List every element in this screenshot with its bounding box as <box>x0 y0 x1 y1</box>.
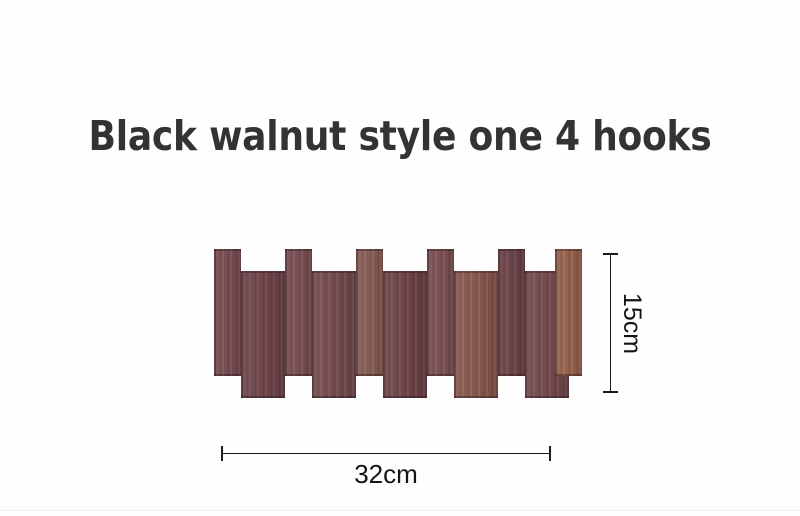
slat-shading <box>312 271 356 398</box>
rack-slat-5 <box>356 249 383 376</box>
slat-bottom-edge <box>241 396 285 398</box>
slat-top-edge <box>241 271 285 273</box>
rack-slat-8 <box>454 271 498 398</box>
rack-slat-2 <box>241 271 285 398</box>
slat-bottom-edge <box>498 374 525 376</box>
slat-bottom-edge <box>454 396 498 398</box>
slat-top-edge <box>427 249 454 251</box>
slat-shading <box>241 271 285 398</box>
rack-slat-9 <box>498 249 525 376</box>
slat-left-edge <box>356 249 358 376</box>
slat-top-edge <box>312 271 356 273</box>
slat-top-edge <box>555 249 582 251</box>
rack-slat-1 <box>214 249 241 376</box>
product-image-canvas: Black walnut style one 4 hooks 15cm 32cm <box>0 0 800 516</box>
slat-left-edge <box>383 271 385 398</box>
slat-left-edge <box>525 271 527 398</box>
slat-shading <box>383 271 427 398</box>
slat-shading <box>454 271 498 398</box>
slat-shading <box>555 249 582 376</box>
slat-left-edge <box>498 249 500 376</box>
slat-shading <box>214 249 241 376</box>
rack-slat-11 <box>555 249 582 376</box>
slat-bottom-edge <box>383 396 427 398</box>
height-dimension-label-wrap: 15cm <box>612 253 652 393</box>
slat-left-edge <box>427 249 429 376</box>
width-dimension-line <box>221 453 551 454</box>
slat-bottom-edge <box>214 374 241 376</box>
slat-top-edge <box>383 271 427 273</box>
slat-left-edge <box>241 271 243 398</box>
slat-top-edge <box>356 249 383 251</box>
slat-bottom-edge <box>555 374 582 376</box>
slat-top-edge <box>214 249 241 251</box>
rack-slat-3 <box>285 249 312 376</box>
wooden-hook-rack <box>214 249 560 398</box>
slat-bottom-edge <box>525 396 569 398</box>
height-dimension-line <box>610 253 611 393</box>
rack-slat-6 <box>383 271 427 398</box>
slat-bottom-edge <box>312 396 356 398</box>
rack-slat-7 <box>427 249 454 376</box>
slat-top-edge <box>285 249 312 251</box>
slat-shading <box>285 249 312 376</box>
bottom-divider <box>0 510 800 511</box>
slat-left-edge <box>312 271 314 398</box>
slat-left-edge <box>454 271 456 398</box>
slat-left-edge <box>285 249 287 376</box>
slat-left-edge <box>555 249 557 376</box>
slat-shading <box>427 249 454 376</box>
slat-top-edge <box>454 271 498 273</box>
slat-bottom-edge <box>285 374 312 376</box>
width-dimension-label: 32cm <box>221 459 551 490</box>
slat-shading <box>498 249 525 376</box>
slat-bottom-edge <box>427 374 454 376</box>
slat-shading <box>356 249 383 376</box>
slat-bottom-edge <box>356 374 383 376</box>
slat-left-edge <box>214 249 216 376</box>
rack-slat-4 <box>312 271 356 398</box>
page-title: Black walnut style one 4 hooks <box>48 112 752 160</box>
slat-top-edge <box>498 249 525 251</box>
height-dimension-label: 15cm <box>618 292 647 353</box>
